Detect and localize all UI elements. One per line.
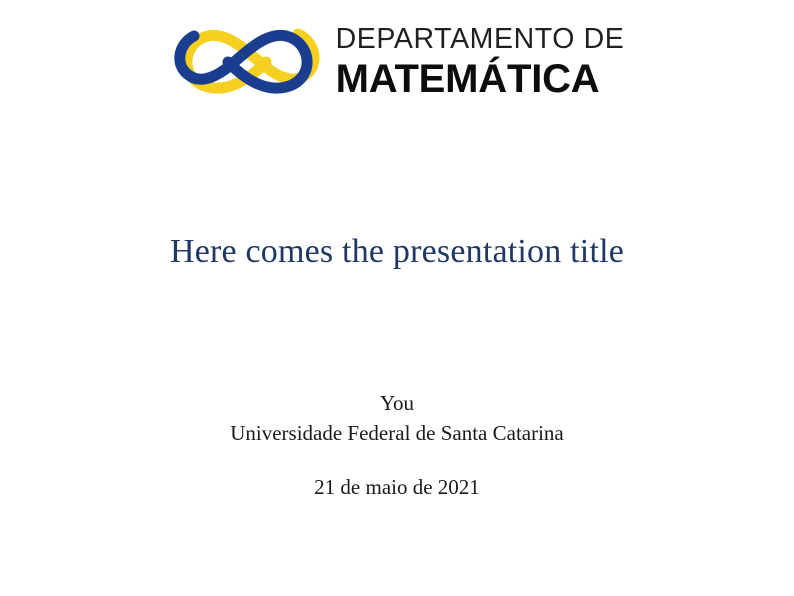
presentation-title: Here comes the presentation title [0,232,794,273]
department-logo: DEPARTAMENTO DE MATEMÁTICA [0,18,794,106]
date-area: 21 de maio de 2021 [0,475,794,500]
presentation-date: 21 de maio de 2021 [0,475,794,500]
author-name: You [0,388,794,418]
logo-wordmark: DEPARTAMENTO DE MATEMÁTICA [336,25,625,99]
author-area: You Universidade Federal de Santa Catari… [0,388,794,449]
infinity-lemniscate-logo-icon [170,18,322,106]
title-slide: DEPARTAMENTO DE MATEMÁTICA Here comes th… [0,0,794,596]
title-area: Here comes the presentation title [0,232,794,273]
logo-line-matematica: MATEMÁTICA [336,59,625,99]
institute-name: Universidade Federal de Santa Catarina [0,418,794,448]
logo-line-departamento: DEPARTAMENTO DE [336,25,625,54]
